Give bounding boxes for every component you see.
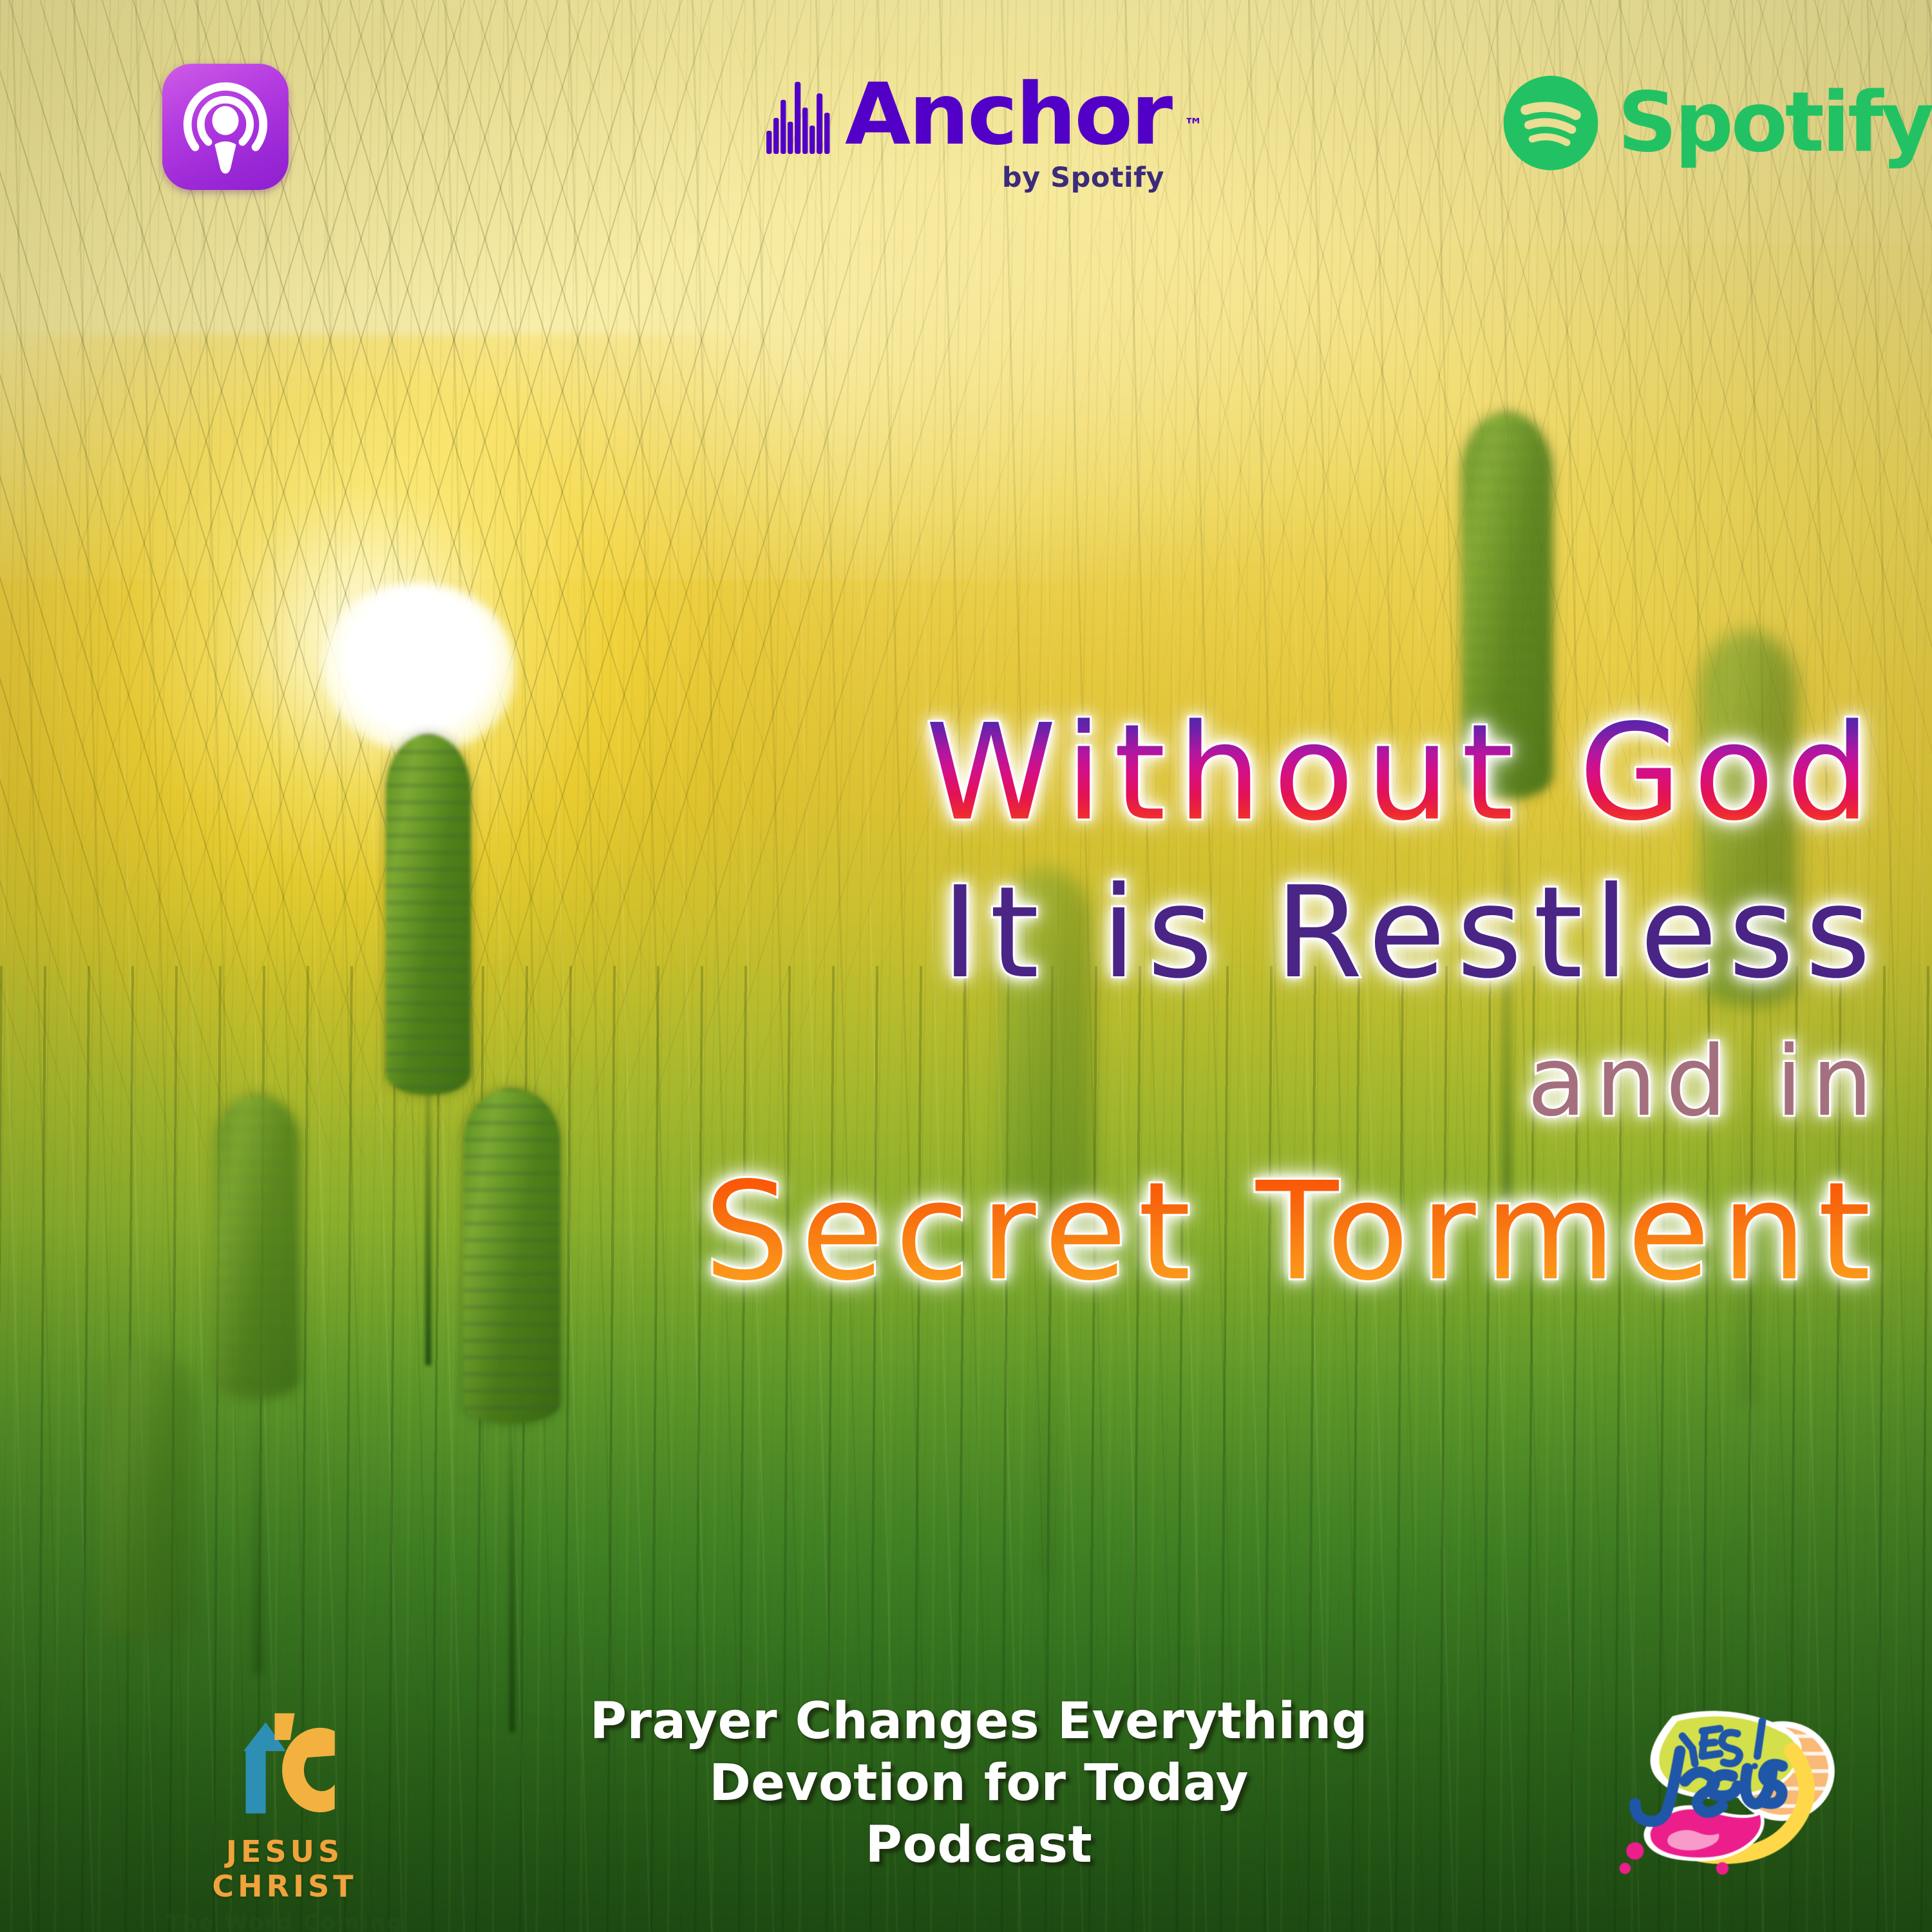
spotify-logo[interactable]: Spotify ®: [1501, 73, 1932, 173]
jesus-christ-wordmark: JESUS CHRIST: [149, 1834, 420, 1904]
jesus-christ-subtitle-1: The Word Coming: [149, 1910, 420, 1932]
yes-jesus-sticker-icon: [1604, 1694, 1861, 1893]
platform-badge-row: Anchor ™ by Spotify Spotify ®: [0, 0, 1932, 245]
podcast-cover-art: Anchor ™ by Spotify Spotify ® Without Go…: [0, 0, 1932, 1932]
anchor-waveform-icon: [766, 79, 836, 154]
jesus-christ-logo[interactable]: JESUS CHRIST The Word Coming www.jesus: [149, 1707, 420, 1900]
title-line-1: Without God: [0, 692, 1882, 853]
episode-title: Without God Without God It is Restless I…: [0, 692, 1932, 1312]
anchor-trademark: ™: [1184, 115, 1203, 137]
title-line-4-wrap: Secret Torment Secret Torment: [0, 1151, 1882, 1312]
spotify-icon: [1501, 73, 1601, 173]
spotify-wordmark: Spotify: [1618, 82, 1932, 164]
title-line-2-wrap: It is Restless It is Restless: [0, 853, 1882, 1013]
title-line-1-wrap: Without God Without God: [0, 692, 1882, 853]
title-line-3: and in: [0, 1013, 1882, 1151]
anchor-wordmark: Anchor: [845, 76, 1171, 154]
anchor-byline: by Spotify: [766, 162, 1217, 194]
title-line-3-wrap: and in and in: [0, 1013, 1882, 1151]
one-way-jesus-mark-icon: [201, 1707, 368, 1829]
anchor-logo[interactable]: Anchor ™ by Spotify: [766, 76, 1217, 211]
title-line-4: Secret Torment: [0, 1151, 1882, 1312]
yes-jesus-logo[interactable]: [1604, 1694, 1861, 1893]
apple-podcasts-icon[interactable]: [162, 64, 289, 190]
title-line-2: It is Restless: [0, 853, 1882, 1013]
